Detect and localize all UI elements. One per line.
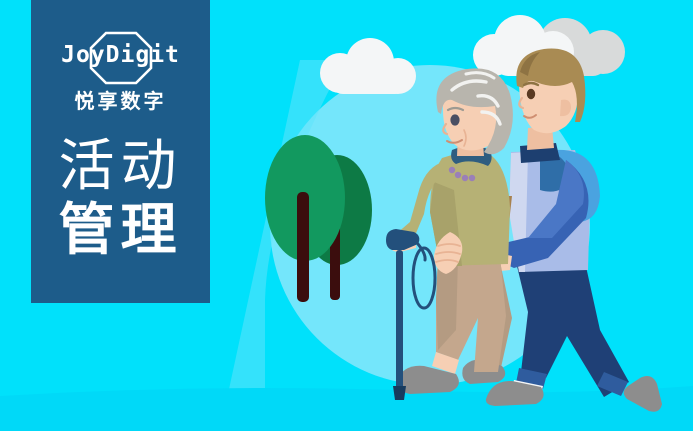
brand-logo: JoyDigit 悦享数字	[31, 30, 210, 112]
brand-panel: JoyDigit 悦享数字 活动 管理	[31, 0, 210, 303]
page-title-line2: 管理	[31, 198, 210, 262]
logo-mark: JoyDigit	[56, 30, 186, 86]
man-eye	[527, 89, 535, 99]
cane-tip	[393, 386, 406, 400]
logo-wordmark: JoyDigit	[56, 42, 186, 68]
page-title: 活动 管理	[31, 134, 210, 262]
ground-tint	[0, 386, 693, 431]
logo-chinese-name: 悦享数字	[31, 92, 210, 112]
woman-eye	[450, 114, 459, 125]
poster-canvas: JoyDigit 悦享数字 活动 管理	[0, 0, 693, 431]
page-title-line1: 活动	[31, 134, 210, 198]
